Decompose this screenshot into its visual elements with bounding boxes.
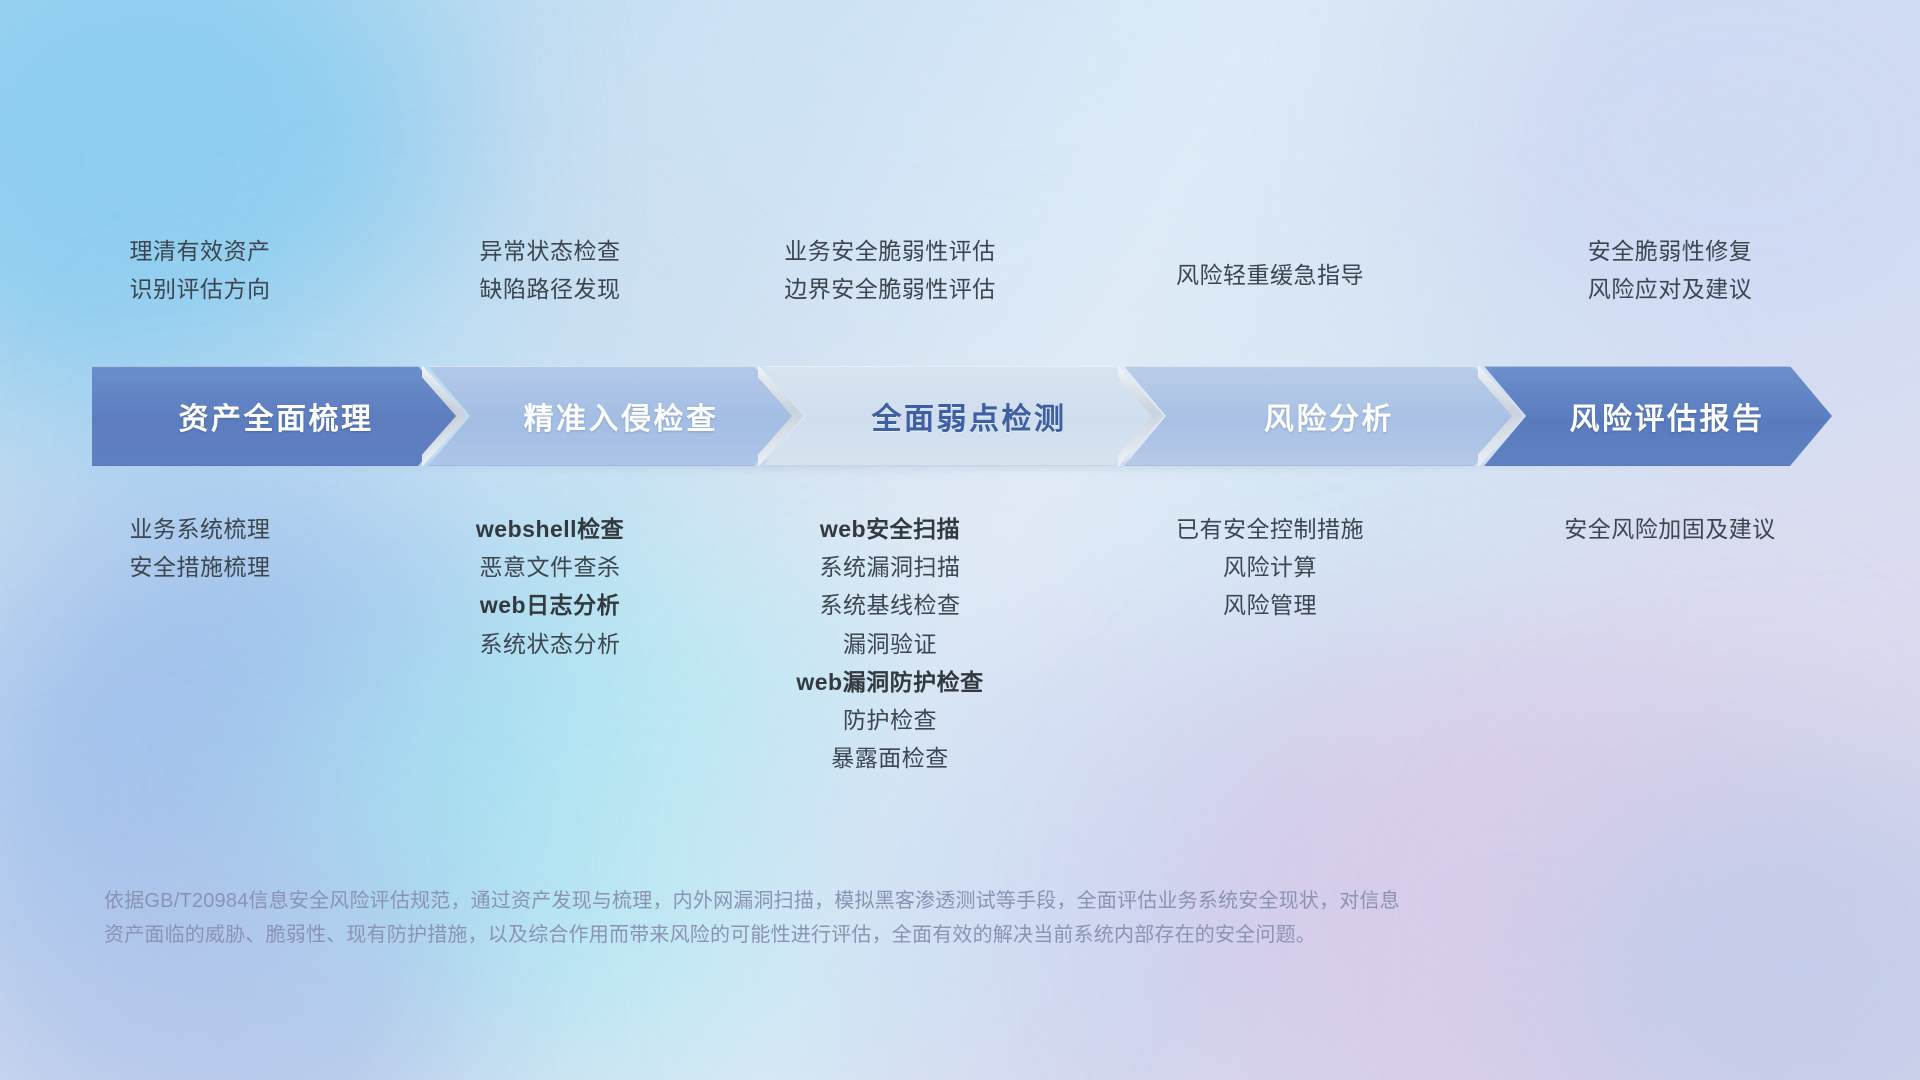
activity-line: 恶意文件查杀 [390,548,710,586]
process-step-2-label: 精准入侵检查 [506,394,719,438]
process-step-5[interactable]: 风险评估报告 [1484,366,1832,466]
process-step-3[interactable]: 全面弱点检测 [764,366,1156,466]
activity-line: 业务系统梳理 [40,510,360,548]
diagram-canvas: 理清有效资产 识别评估方向 异常状态检查 缺陷路径发现 业务安全脆弱性评估 边界… [0,0,1920,1080]
outcome-column-4: 风险轻重缓急指导 [1080,256,1460,294]
outcome-line: 风险应对及建议 [1470,270,1870,308]
footer-line-2: 资产面临的威胁、脆弱性、现有防护措施，以及综合作用而带来风险的可能性进行评估，全… [104,918,1664,952]
activity-line: 风险管理 [1080,586,1460,624]
outcome-column-5: 安全脆弱性修复 风险应对及建议 [1470,232,1870,308]
process-step-1[interactable]: 资产全面梳理 [92,366,460,466]
activity-line: 防护检查 [700,701,1080,739]
activity-column-3: web安全扫描 系统漏洞扫描 系统基线检查 漏洞验证 web漏洞防护检查 防护检… [700,510,1080,777]
footer-line-1: 依据GB/T20984信息安全风险评估规范，通过资产发现与梳理，内外网漏洞扫描，… [104,884,1664,918]
process-step-5-label: 风险评估报告 [1552,394,1765,438]
outcome-line: 缺陷路径发现 [390,270,710,308]
outcome-column-3: 业务安全脆弱性评估 边界安全脆弱性评估 [700,232,1080,308]
activity-line: webshell检查 [390,510,710,548]
activity-line: web安全扫描 [700,510,1080,548]
outcome-line: 识别评估方向 [40,270,360,308]
activity-column-5: 安全风险加固及建议 [1470,510,1870,548]
activity-column-4: 已有安全控制措施 风险计算 风险管理 [1080,510,1460,625]
activity-line: 风险计算 [1080,548,1460,586]
outcome-line: 安全脆弱性修复 [1470,232,1870,270]
process-step-4[interactable]: 风险分析 [1124,366,1516,466]
process-chevron-band: 资产全面梳理 精准入侵检查 全面弱点检测 风险分析 风险评估报告 [92,366,1832,466]
activity-line: 系统基线检查 [700,586,1080,624]
outcome-line: 业务安全脆弱性评估 [700,232,1080,270]
outcome-column-1: 理清有效资产 识别评估方向 [40,232,360,308]
activity-line: web日志分析 [390,586,710,624]
outcome-line: 理清有效资产 [40,232,360,270]
activity-line: 暴露面检查 [700,739,1080,777]
activity-column-1: 业务系统梳理 安全措施梳理 [40,510,360,586]
footer-description: 依据GB/T20984信息安全风险评估规范，通过资产发现与梳理，内外网漏洞扫描，… [104,884,1664,953]
activity-line: 已有安全控制措施 [1080,510,1460,548]
activity-line: 系统漏洞扫描 [700,548,1080,586]
process-step-3-label: 全面弱点检测 [854,394,1067,438]
activity-line: 安全风险加固及建议 [1470,510,1870,548]
outcome-column-2: 异常状态检查 缺陷路径发现 [390,232,710,308]
outcome-line: 风险轻重缓急指导 [1080,256,1460,294]
outcome-line: 边界安全脆弱性评估 [700,270,1080,308]
activity-column-2: webshell检查 恶意文件查杀 web日志分析 系统状态分析 [390,510,710,663]
activity-line: 漏洞验证 [700,625,1080,663]
outcome-line: 异常状态检查 [390,232,710,270]
activity-line: 安全措施梳理 [40,548,360,586]
process-step-2[interactable]: 精准入侵检查 [428,366,796,466]
activity-line: 系统状态分析 [390,625,710,663]
activity-line: web漏洞防护检查 [700,663,1080,701]
process-step-1-label: 资产全面梳理 [179,394,374,438]
process-step-4-label: 风险分析 [1246,394,1394,438]
